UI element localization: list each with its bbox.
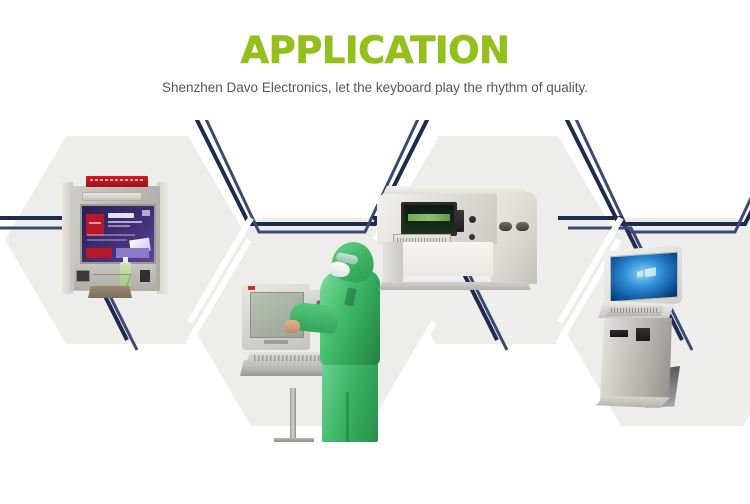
kiosk-card-slot [636,328,650,341]
hexagon-gallery [0,120,750,504]
kiosk-screen-housing [604,245,682,308]
machine-nozzle-right [516,222,529,231]
atm-screen-line-2 [108,225,130,227]
hex-photo-wall-atm [62,176,168,298]
atm-screen-line-3 [87,234,135,236]
atm-screen-logo [142,210,150,216]
atm-screen-heading [108,213,134,218]
atm-top-slot [82,192,142,201]
machine-display [401,202,457,236]
machine-right-module [491,192,537,284]
workstation-monitor-label [264,340,288,344]
atm-screen-button-right [116,248,149,258]
technician-leg-seam [346,392,349,442]
hex-photo-bench-machine [375,180,540,295]
kiosk-keyboard [606,306,664,316]
atm-card-reader [76,270,90,282]
kiosk-foot-plate [596,396,670,408]
banner-header: APPLICATION Shenzhen Davo Electronics, l… [0,0,750,96]
machine-knob-upper [469,216,476,223]
atm-tray [88,286,132,298]
machine-card-reader [455,210,464,232]
atm-screen-line-1 [108,221,142,223]
atm-screen-red-card [86,214,104,236]
machine-under-cavity [401,242,493,276]
atm-screen-button-left [86,248,112,258]
technician-figure [320,242,382,442]
page-title: APPLICATION [0,0,750,70]
application-banner: APPLICATION Shenzhen Davo Electronics, l… [0,0,750,504]
machine-knob-lower [469,234,475,240]
technician-hand [284,320,300,333]
machine-nozzle-left [499,222,512,231]
atm-screen-line-4 [87,239,127,241]
atm-receipt-slot [140,270,150,282]
hex-photo-floor-kiosk [588,248,698,423]
atm-red-banner [86,176,148,187]
kiosk-desktop-logo-right [644,267,656,286]
machine-base-plinth [379,282,531,290]
atm-touchscreen [80,204,156,264]
workstation-monitor-badge [248,286,255,290]
page-subtitle: Shenzhen Davo Electronics, let the keybo… [0,70,750,96]
workstation-post [290,388,296,442]
kiosk-receipt-slot [610,330,628,337]
kiosk-screen [610,252,678,303]
machine-left-leg [383,242,403,284]
technician-legs [322,360,378,442]
workstation-base [274,438,314,442]
